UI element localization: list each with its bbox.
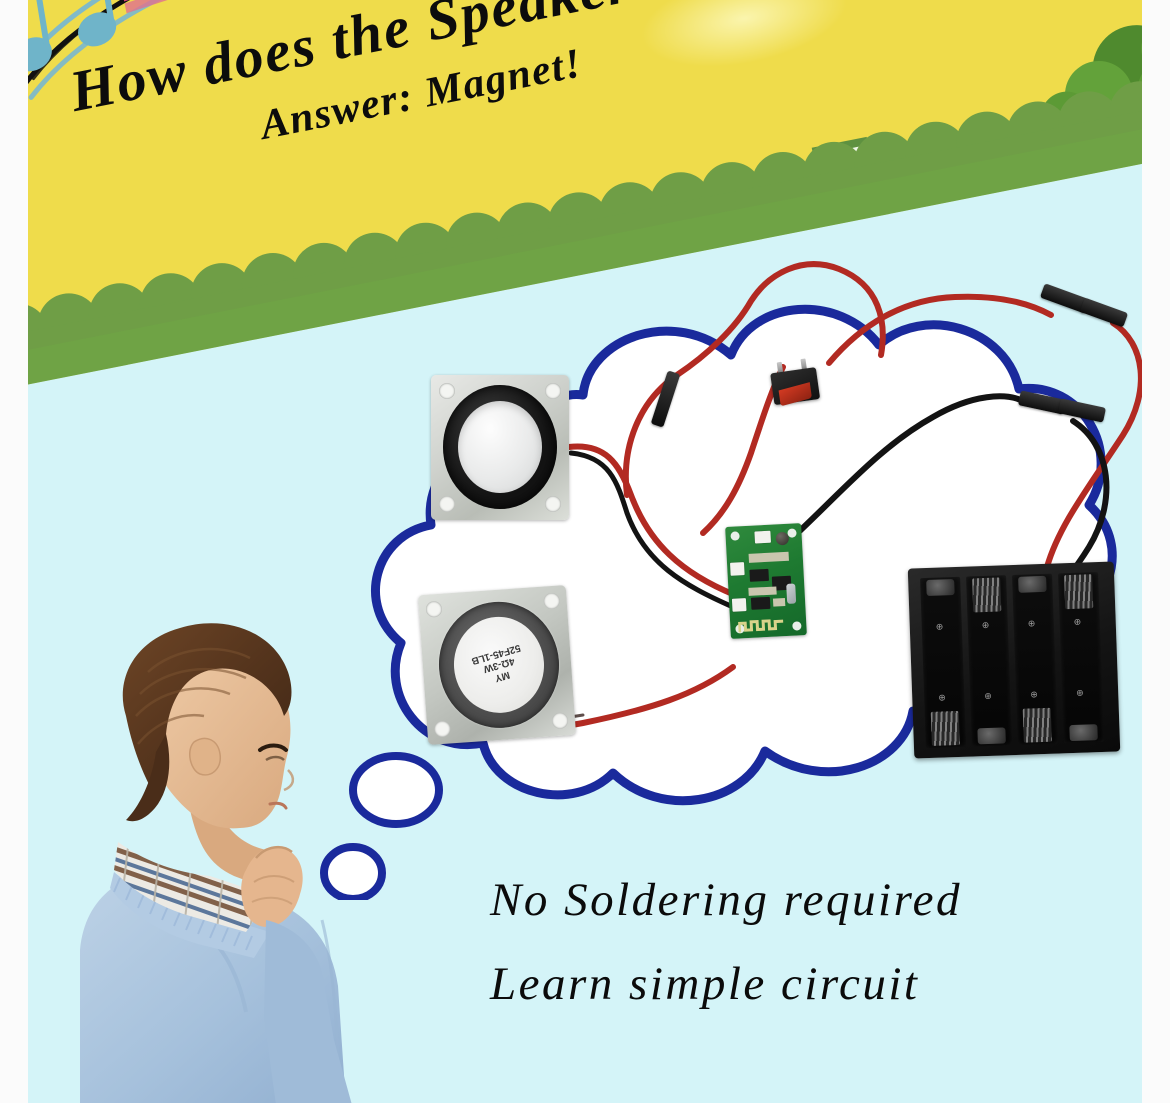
battery-polarity-marker: ⊕ bbox=[938, 692, 946, 703]
speaker-mount-hole bbox=[439, 383, 455, 399]
battery-polarity-marker: ⊕ bbox=[936, 621, 944, 632]
battery-flat-contact bbox=[1069, 724, 1098, 741]
pcb-ic-1 bbox=[749, 569, 769, 582]
boy-nose bbox=[284, 770, 293, 790]
pcb-speaker-connector-a bbox=[730, 562, 745, 576]
battery-spring bbox=[931, 711, 960, 746]
pcb-antenna-trace bbox=[738, 616, 785, 633]
pcb-crystal bbox=[786, 583, 796, 603]
battery-flat-contact bbox=[977, 727, 1006, 744]
thinking-boy-photo bbox=[70, 620, 390, 1103]
rocker-power-switch[interactable] bbox=[767, 357, 825, 414]
poster-root: MY 4Ω-3W 52F45-1LB bbox=[0, 0, 1170, 1103]
bluetooth-amplifier-pcb bbox=[725, 523, 807, 639]
pcb-smd-part bbox=[773, 598, 785, 607]
pcb-power-connector bbox=[754, 531, 771, 544]
battery-flat-contact bbox=[1018, 576, 1047, 593]
pcb-speaker-connector-b bbox=[732, 598, 747, 612]
battery-spring bbox=[972, 577, 1001, 612]
poster-background: MY 4Ω-3W 52F45-1LB bbox=[28, 0, 1142, 1103]
battery-polarity-marker: ⊕ bbox=[984, 691, 992, 702]
speaker-mount-hole bbox=[545, 383, 561, 399]
speaker-mount-hole bbox=[545, 496, 561, 512]
battery-polarity-marker: ⊕ bbox=[1028, 618, 1036, 629]
boy-ear bbox=[190, 738, 221, 774]
speaker-magnet-label-text: MY 4Ω-3W 52F45-1LB bbox=[470, 641, 528, 688]
battery-polarity-marker: ⊕ bbox=[1074, 617, 1082, 628]
speaker-cone bbox=[458, 401, 542, 493]
battery-spring bbox=[1064, 574, 1093, 609]
battery-polarity-marker: ⊕ bbox=[982, 620, 990, 631]
pcb-resistor-array-2 bbox=[748, 586, 776, 595]
caption-line-1: No Soldering required bbox=[490, 873, 962, 927]
speaker-mount-hole bbox=[439, 496, 455, 512]
battery-polarity-marker: ⊕ bbox=[1030, 689, 1038, 700]
pcb-ic-3 bbox=[751, 597, 771, 610]
battery-spring bbox=[1023, 708, 1052, 743]
battery-polarity-marker: ⊕ bbox=[1076, 688, 1084, 699]
aa-battery-holder: ⊕ ⊕ ⊕ ⊕ ⊕ ⊕ ⊕ ⊕ bbox=[911, 565, 1117, 755]
caption-line-2: Learn simple circuit bbox=[490, 957, 919, 1011]
speaker-magnet-view: MY 4Ω-3W 52F45-1LB bbox=[418, 585, 576, 745]
speaker-front-view bbox=[431, 375, 569, 520]
battery-flat-contact bbox=[926, 579, 955, 596]
